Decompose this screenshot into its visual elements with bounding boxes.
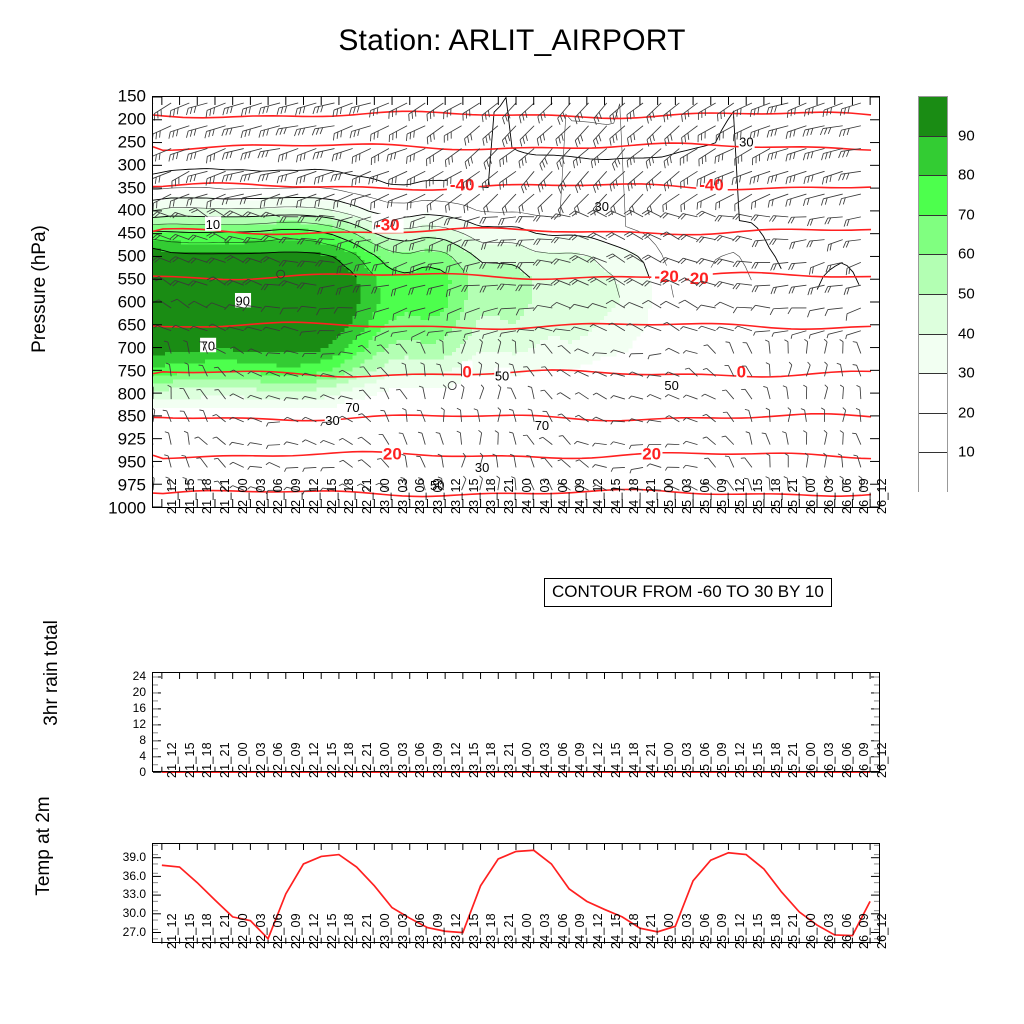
rain-tick-label: 20: [133, 686, 146, 698]
x-tick-label: 25_21: [787, 913, 800, 949]
colorbar-tick-label: 40: [958, 325, 975, 342]
x-tick-label: 23_06: [414, 742, 427, 778]
x-tick-label: 23_06: [414, 478, 427, 514]
colorbar-tick-label: 50: [958, 286, 975, 303]
contour-range-caption: CONTOUR FROM -60 TO 30 BY 10: [544, 578, 832, 607]
pressure-tick-label: 975: [118, 477, 146, 494]
x-tick-label: 23_00: [379, 742, 392, 778]
x-tick-label: 26_06: [841, 478, 854, 514]
x-tick-label: 22_03: [255, 742, 268, 778]
colorbar-tick-label: 20: [958, 404, 975, 421]
x-tick-label: 22_21: [361, 913, 374, 949]
x-tick-label: 23_03: [397, 913, 410, 949]
x-tick-label: 22_06: [272, 478, 285, 514]
x-tick-label: 24_15: [610, 742, 623, 778]
x-tick-label: 21_18: [201, 913, 214, 949]
x-tick-label: 23_21: [503, 478, 516, 514]
pressure-tick-label: 1000: [108, 500, 146, 517]
x-tick-label: 21_18: [201, 478, 214, 514]
main-x-axis-labels: 21_1221_1521_1821_2122_0022_0322_0622_09…: [152, 512, 880, 582]
x-tick-label: 21_15: [184, 478, 197, 514]
x-tick-label: 26_03: [823, 913, 836, 949]
x-tick-label: 26_03: [823, 742, 836, 778]
x-tick-label: 22_18: [343, 913, 356, 949]
colorbar-band: [919, 414, 947, 454]
x-tick-label: 26_12: [876, 478, 889, 514]
x-tick-label: 25_06: [699, 478, 712, 514]
temp-axis-title: Temp at 2m: [33, 786, 55, 906]
x-tick-label: 24_21: [645, 742, 658, 778]
x-tick-label: 25_12: [734, 742, 747, 778]
x-tick-label: 22_00: [237, 478, 250, 514]
pressure-tick-label: 350: [118, 179, 146, 196]
x-tick-label: 24_12: [592, 742, 605, 778]
x-tick-label: 22_12: [308, 742, 321, 778]
x-tick-label: 25_18: [770, 478, 783, 514]
x-tick-label: 25_06: [699, 742, 712, 778]
x-tick-label: 23_15: [468, 913, 481, 949]
temp-tick-label: 30.0: [123, 907, 146, 919]
rain-x-axis-labels: 21_1221_1521_1821_2122_0022_0322_0622_09…: [152, 776, 880, 846]
x-tick-label: 24_21: [645, 478, 658, 514]
x-tick-label: 23_00: [379, 478, 392, 514]
x-tick-label: 24_09: [574, 742, 587, 778]
pressure-tick-label: 200: [118, 110, 146, 127]
pressure-tick-label: 650: [118, 316, 146, 333]
x-tick-label: 22_12: [308, 913, 321, 949]
pressure-tick-label: 550: [118, 271, 146, 288]
colorbar-band: [919, 176, 947, 216]
x-tick-label: 23_18: [485, 742, 498, 778]
page-title: Station: ARLIT_AIRPORT: [0, 24, 1024, 58]
x-tick-label: 23_18: [485, 478, 498, 514]
pressure-tick-label: 800: [118, 385, 146, 402]
x-tick-label: 22_03: [255, 913, 268, 949]
x-tick-label: 26_09: [858, 478, 871, 514]
pressure-tick-label: 850: [118, 408, 146, 425]
rain-tick-label: 8: [139, 734, 146, 746]
x-tick-label: 23_09: [432, 478, 445, 514]
pressure-tick-label: 150: [118, 88, 146, 105]
x-tick-label: 22_15: [326, 742, 339, 778]
rain-tick-label: 12: [133, 718, 146, 730]
x-tick-label: 23_18: [485, 913, 498, 949]
x-tick-label: 23_15: [468, 478, 481, 514]
pressure-tick-label: 450: [118, 225, 146, 242]
x-tick-label: 21_21: [219, 913, 232, 949]
colorbar-tick-label: 90: [958, 127, 975, 144]
x-tick-label: 25_18: [770, 742, 783, 778]
x-tick-label: 24_03: [539, 913, 552, 949]
x-tick-label: 25_12: [734, 913, 747, 949]
x-tick-label: 24_00: [521, 478, 534, 514]
x-tick-label: 25_03: [681, 742, 694, 778]
x-tick-label: 24_06: [557, 742, 570, 778]
rain-tick-label: 16: [133, 702, 146, 714]
x-tick-label: 22_06: [272, 742, 285, 778]
pressure-axis-labels: 1502002503003504004505005506006507007508…: [104, 96, 150, 508]
x-tick-label: 26_03: [823, 478, 836, 514]
colorbar-tick-label: 70: [958, 206, 975, 223]
x-tick-label: 22_15: [326, 913, 339, 949]
x-tick-label: 26_12: [876, 742, 889, 778]
x-tick-label: 22_00: [237, 742, 250, 778]
x-tick-label: 22_06: [272, 913, 285, 949]
x-tick-label: 23_12: [450, 478, 463, 514]
x-tick-label: 26_00: [805, 742, 818, 778]
x-tick-label: 24_09: [574, 913, 587, 949]
contour-plot-canvas: -40-40-30-20-200020201030303030505050507…: [153, 97, 879, 507]
x-tick-label: 26_12: [876, 913, 889, 949]
x-tick-label: 24_03: [539, 742, 552, 778]
x-tick-label: 25_18: [770, 913, 783, 949]
x-tick-label: 23_21: [503, 742, 516, 778]
sounding-contour-panel[interactable]: -40-40-30-20-200020201030303030505050507…: [152, 96, 880, 508]
x-tick-label: 25_00: [663, 742, 676, 778]
x-tick-label: 25_15: [752, 478, 765, 514]
pressure-tick-label: 750: [118, 362, 146, 379]
x-tick-label: 22_00: [237, 913, 250, 949]
x-tick-label: 24_18: [628, 478, 641, 514]
x-tick-label: 23_21: [503, 913, 516, 949]
x-tick-label: 24_12: [592, 913, 605, 949]
x-tick-label: 25_06: [699, 913, 712, 949]
x-tick-label: 21_12: [166, 478, 179, 514]
x-tick-label: 26_09: [858, 913, 871, 949]
colorbar-tick-label: 60: [958, 246, 975, 263]
colorbar-band: [919, 255, 947, 295]
colorbar-tick-label: 10: [958, 444, 975, 461]
x-tick-label: 25_09: [716, 913, 729, 949]
pressure-tick-label: 250: [118, 133, 146, 150]
x-tick-label: 25_09: [716, 478, 729, 514]
x-tick-label: 24_18: [628, 742, 641, 778]
rain-tick-label: 4: [139, 750, 146, 762]
x-tick-label: 25_21: [787, 478, 800, 514]
x-tick-label: 21_21: [219, 478, 232, 514]
x-tick-label: 21_21: [219, 742, 232, 778]
colorbar-band: [919, 97, 947, 137]
colorbar-band: [919, 453, 947, 493]
x-tick-label: 22_21: [361, 478, 374, 514]
x-tick-label: 24_06: [557, 913, 570, 949]
x-tick-label: 21_12: [166, 913, 179, 949]
pressure-tick-label: 500: [118, 248, 146, 265]
x-tick-label: 23_09: [432, 913, 445, 949]
colorbar[interactable]: [918, 96, 948, 492]
rain-tick-label: 0: [139, 766, 146, 778]
x-tick-label: 25_03: [681, 913, 694, 949]
x-tick-label: 22_18: [343, 478, 356, 514]
x-tick-label: 22_09: [290, 478, 303, 514]
x-tick-label: 24_00: [521, 913, 534, 949]
x-tick-label: 25_09: [716, 742, 729, 778]
pressure-tick-label: 950: [118, 454, 146, 471]
x-tick-label: 22_18: [343, 742, 356, 778]
x-tick-label: 24_06: [557, 478, 570, 514]
x-tick-label: 21_15: [184, 742, 197, 778]
x-tick-label: 23_03: [397, 478, 410, 514]
x-tick-label: 21_18: [201, 742, 214, 778]
temp-tick-label: 27.0: [123, 926, 146, 938]
rain-tick-label: 24: [133, 670, 146, 682]
x-tick-label: 22_12: [308, 478, 321, 514]
x-tick-label: 23_00: [379, 913, 392, 949]
x-tick-label: 26_00: [805, 478, 818, 514]
x-tick-label: 25_15: [752, 913, 765, 949]
pressure-axis-title: Pressure (hPa): [29, 189, 51, 389]
pressure-tick-label: 700: [118, 339, 146, 356]
x-tick-label: 26_00: [805, 913, 818, 949]
rain-axis-title: 3hr rain total: [41, 613, 63, 733]
temp-axis-labels: 39.036.033.030.027.0: [104, 843, 148, 943]
colorbar-tick-label: 80: [958, 167, 975, 184]
colorbar-band: [919, 374, 947, 414]
x-tick-label: 24_09: [574, 478, 587, 514]
x-tick-label: 24_15: [610, 913, 623, 949]
x-tick-label: 24_18: [628, 913, 641, 949]
colorbar-band: [919, 335, 947, 375]
temp-tick-label: 33.0: [123, 888, 146, 900]
x-tick-label: 24_21: [645, 913, 658, 949]
x-tick-label: 22_09: [290, 742, 303, 778]
x-tick-label: 21_15: [184, 913, 197, 949]
x-tick-label: 26_06: [841, 742, 854, 778]
x-tick-label: 23_06: [414, 913, 427, 949]
temp-x-axis-labels: 21_1221_1521_1821_2122_0022_0322_0622_09…: [152, 947, 880, 1017]
x-tick-label: 25_00: [663, 478, 676, 514]
x-tick-label: 25_00: [663, 913, 676, 949]
pressure-tick-label: 925: [118, 431, 146, 448]
temp-tick-label: 36.0: [123, 870, 146, 882]
x-tick-label: 24_03: [539, 478, 552, 514]
temp-tick-label: 39.0: [123, 851, 146, 863]
rain-axis-labels: 24201612840: [110, 672, 148, 772]
x-tick-label: 24_00: [521, 742, 534, 778]
x-tick-label: 25_15: [752, 742, 765, 778]
x-tick-label: 23_12: [450, 742, 463, 778]
x-tick-label: 25_21: [787, 742, 800, 778]
x-tick-label: 23_15: [468, 742, 481, 778]
x-tick-label: 22_09: [290, 913, 303, 949]
x-tick-label: 24_15: [610, 478, 623, 514]
x-tick-label: 26_06: [841, 913, 854, 949]
colorbar-band: [919, 295, 947, 335]
x-tick-label: 23_12: [450, 913, 463, 949]
x-tick-label: 25_12: [734, 478, 747, 514]
x-tick-label: 21_12: [166, 742, 179, 778]
x-tick-label: 23_03: [397, 742, 410, 778]
x-tick-label: 22_15: [326, 478, 339, 514]
x-tick-label: 24_12: [592, 478, 605, 514]
x-tick-label: 23_09: [432, 742, 445, 778]
x-tick-label: 26_09: [858, 742, 871, 778]
x-tick-label: 25_03: [681, 478, 694, 514]
colorbar-band: [919, 216, 947, 256]
pressure-tick-label: 400: [118, 202, 146, 219]
x-tick-label: 22_03: [255, 478, 268, 514]
colorbar-tick-label: 30: [958, 365, 975, 382]
pressure-tick-label: 300: [118, 156, 146, 173]
x-tick-label: 22_21: [361, 742, 374, 778]
colorbar-band: [919, 137, 947, 177]
pressure-tick-label: 600: [118, 294, 146, 311]
